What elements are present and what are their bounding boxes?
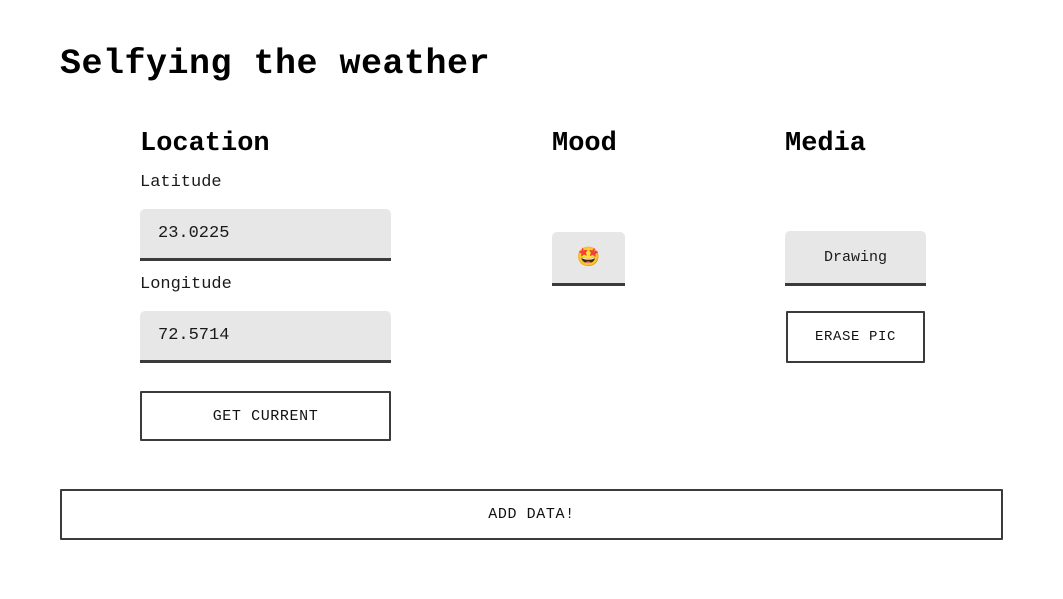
- erase-pic-button[interactable]: ERASE PIC: [786, 311, 925, 363]
- media-drawing-value: Drawing: [824, 249, 887, 266]
- latitude-label: Latitude: [140, 172, 222, 194]
- column-heading-media: Media: [785, 128, 866, 160]
- mood-select[interactable]: 🤩: [552, 232, 625, 286]
- get-current-button-label: GET CURRENT: [213, 408, 319, 425]
- longitude-label: Longitude: [140, 274, 232, 296]
- add-data-button[interactable]: ADD DATA!: [60, 489, 1003, 540]
- get-current-button[interactable]: GET CURRENT: [140, 391, 391, 441]
- column-heading-location: Location: [140, 128, 270, 160]
- longitude-input[interactable]: 72.5714: [140, 311, 391, 363]
- add-data-button-label: ADD DATA!: [488, 506, 574, 523]
- erase-pic-button-label: ERASE PIC: [815, 329, 896, 345]
- star-struck-emoji: 🤩: [577, 248, 601, 267]
- page-title: Selfying the weather: [60, 43, 490, 85]
- latitude-value: 23.0225: [158, 224, 229, 243]
- latitude-input[interactable]: 23.0225: [140, 209, 391, 261]
- app-root: Selfying the weather Location Latitude 2…: [0, 0, 1063, 599]
- media-drawing-input[interactable]: Drawing: [785, 231, 926, 286]
- longitude-value: 72.5714: [158, 326, 229, 345]
- column-heading-mood: Mood: [552, 128, 617, 160]
